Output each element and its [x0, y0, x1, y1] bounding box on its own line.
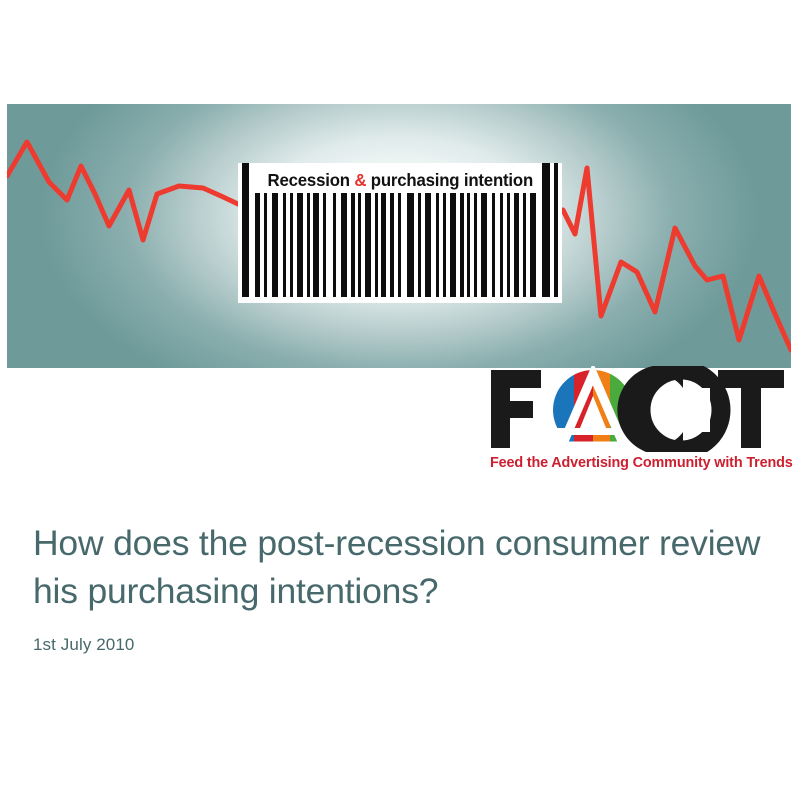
barcode-bar [425, 193, 431, 297]
barcode-bar [407, 193, 414, 297]
barcode-bar [381, 193, 386, 297]
barcode-bar [474, 193, 477, 297]
slide-date: 1st July 2010 [33, 635, 763, 655]
barcode-bar [460, 193, 464, 297]
barcode-bar [290, 193, 293, 297]
logo-letter-c [617, 366, 721, 452]
barcode-label-prefix: Recession [267, 170, 354, 190]
fact-logo: Feed the Advertising Community with Tren… [488, 366, 788, 478]
barcode-bar [443, 193, 446, 297]
barcode-bar [530, 193, 536, 297]
barcode-bar [450, 193, 456, 297]
barcode-label: Recession & purchasing intention [238, 166, 562, 194]
barcode-bar [307, 193, 310, 297]
fact-tagline: Feed the Advertising Community with Tren… [490, 455, 788, 471]
barcode-bar [297, 193, 303, 297]
barcode-bar [500, 193, 503, 297]
barcode-bar [272, 193, 278, 297]
logo-letter-f [491, 370, 541, 448]
barcode-graphic: Recession & purchasing intention [238, 163, 562, 303]
barcode-bar [313, 193, 319, 297]
barcode-bar [365, 193, 371, 297]
barcode-bar [467, 193, 470, 297]
barcode-bar [375, 193, 378, 297]
barcode-bar [436, 193, 439, 297]
barcode-bar [264, 193, 267, 297]
title-block: How does the post-recession consumer rev… [33, 520, 763, 655]
barcode-bar [507, 193, 510, 297]
barcode-bar [523, 193, 526, 297]
barcode-bar [514, 193, 519, 297]
barcode-label-ampersand: & [354, 170, 366, 190]
barcode-bar [418, 193, 421, 297]
barcode-bar [481, 193, 487, 297]
barcode-bar [333, 193, 336, 297]
barcode-bar [283, 193, 286, 297]
barcode-bar [492, 193, 495, 297]
barcode-bar [255, 193, 260, 297]
barcode-bar [398, 193, 401, 297]
fact-wordmark [488, 366, 788, 452]
barcode-bar [358, 193, 361, 297]
page-title: How does the post-recession consumer rev… [33, 520, 763, 615]
barcode-bar [390, 193, 394, 297]
barcode-bar [351, 193, 355, 297]
barcode-bar [341, 193, 347, 297]
barcode-bar [323, 193, 326, 297]
barcode-label-suffix: purchasing intention [366, 170, 533, 190]
